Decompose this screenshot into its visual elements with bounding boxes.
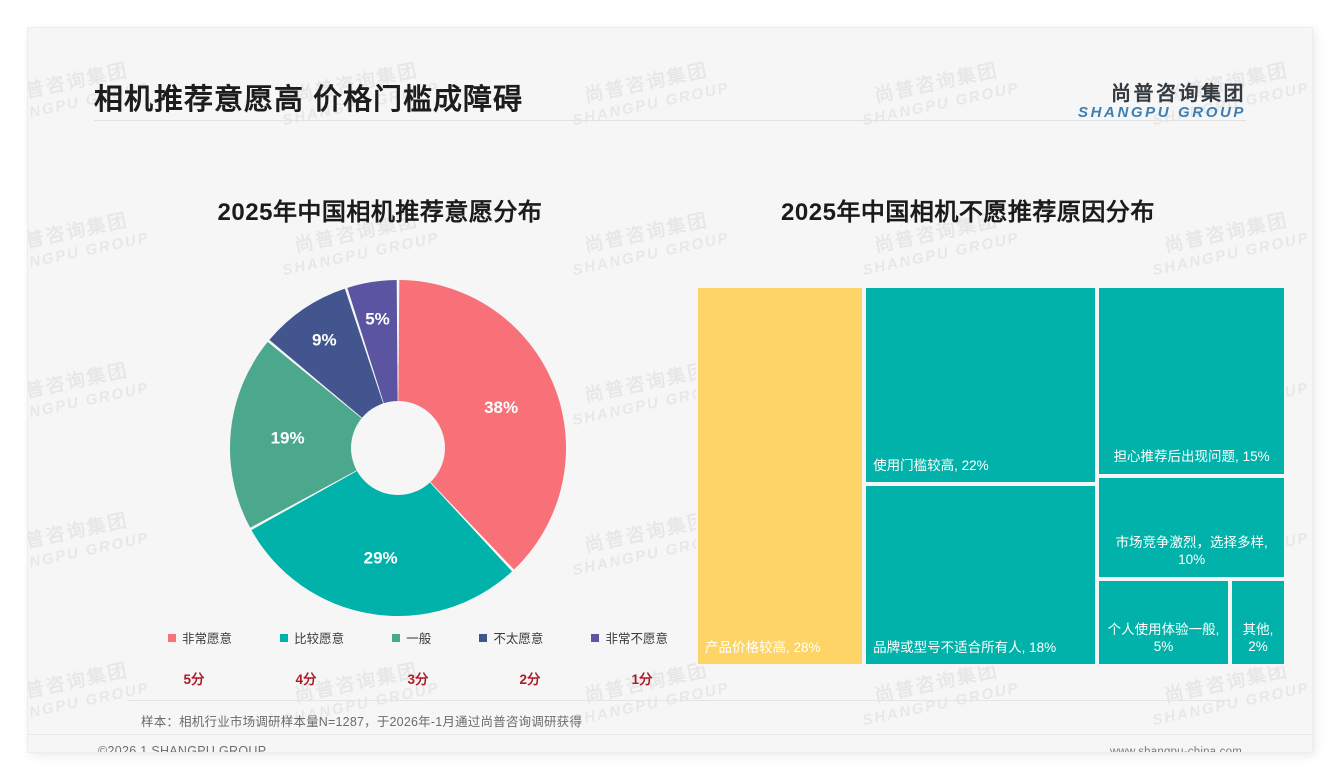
sample-footnote: 样本：相机行业市场调研样本量N=1287，于2026年-1月通过尚普咨询调研获得	[141, 711, 582, 730]
pie-score-row: 5分4分3分2分1分	[168, 668, 668, 688]
treemap-cell-label: 产品价格较高, 28%	[698, 640, 862, 657]
treemap-cell[interactable]: 担心推荐后出现问题, 15%	[1097, 286, 1286, 476]
legend-item[interactable]: 非常不愿意	[591, 628, 668, 647]
footnote-divider	[128, 700, 1228, 701]
score-label: 4分	[280, 668, 332, 688]
treemap-cell-label: 担心推荐后出现问题, 15%	[1099, 449, 1284, 466]
pie-legend: 非常愿意比较愿意一般不太愿意非常不愿意	[168, 628, 668, 647]
brand-logo-cn: 尚普咨询集团	[1078, 83, 1246, 105]
treemap-cell-label: 品牌或型号不适合所有人, 18%	[866, 640, 1095, 657]
legend-swatch-icon	[168, 634, 176, 642]
treemap-cell-label: 市场竞争激烈，选择多样, 10%	[1099, 535, 1284, 569]
pie-slice-label: 19%	[271, 429, 305, 448]
treemap-cell[interactable]: 个人使用体验一般, 5%	[1097, 579, 1230, 666]
donut-hole	[351, 401, 445, 495]
footer-website: www.shangpu-china.com	[1110, 746, 1242, 752]
legend-label: 非常愿意	[182, 628, 232, 647]
pie-slice-label: 5%	[365, 310, 390, 329]
legend-swatch-icon	[392, 634, 400, 642]
slide-canvas: 尚普咨询集团SHANGPU GROUP尚普咨询集团SHANGPU GROUP尚普…	[28, 28, 1312, 752]
watermark-text: 尚普咨询集团SHANGPU GROUP	[28, 502, 151, 579]
donut-chart: 38%29%19%9%5%	[228, 278, 568, 618]
treemap-cell[interactable]: 市场竞争激烈，选择多样, 10%	[1097, 476, 1286, 579]
pie-slice-label: 9%	[312, 331, 337, 350]
legend-item[interactable]: 一般	[392, 628, 431, 647]
legend-item[interactable]: 不太愿意	[479, 628, 543, 647]
treemap-cell-label: 使用门槛较高, 22%	[866, 458, 1095, 475]
slide-header: 相机推荐意愿高 价格门槛成障碍 尚普咨询集团 SHANGPU GROUP	[28, 28, 1312, 120]
page-title: 相机推荐意愿高 价格门槛成障碍	[94, 76, 523, 118]
legend-label: 比较愿意	[294, 628, 344, 647]
legend-item[interactable]: 非常愿意	[168, 628, 232, 647]
footer-copyright: ©2026.1 SHANGPU GROUP	[98, 744, 266, 752]
score-label: 2分	[504, 668, 556, 688]
legend-label: 不太愿意	[493, 628, 543, 647]
treemap-cell[interactable]: 品牌或型号不适合所有人, 18%	[864, 484, 1097, 666]
legend-label: 非常不愿意	[605, 628, 668, 647]
header-divider	[94, 120, 1246, 121]
treemap-cell-label: 个人使用体验一般, 5%	[1099, 622, 1228, 656]
legend-item[interactable]: 比较愿意	[280, 628, 344, 647]
score-label: 3分	[392, 668, 444, 688]
treemap-chart: 产品价格较高, 28%使用门槛较高, 22%品牌或型号不适合所有人, 18%担心…	[696, 286, 1286, 666]
treemap-cell-label: 其他, 2%	[1232, 622, 1284, 656]
treemap-title: 2025年中国相机不愿推荐原因分布	[688, 192, 1248, 227]
score-label: 5分	[168, 668, 220, 688]
pie-slice-label: 38%	[484, 398, 518, 417]
watermark-text: 尚普咨询集团SHANGPU GROUP	[28, 352, 151, 429]
donut-chart-svg: 38%29%19%9%5%	[228, 278, 568, 618]
treemap-cell[interactable]: 产品价格较高, 28%	[696, 286, 864, 666]
legend-swatch-icon	[280, 634, 288, 642]
treemap-cell[interactable]: 使用门槛较高, 22%	[864, 286, 1097, 484]
pie-slice-label: 29%	[364, 549, 398, 568]
legend-swatch-icon	[591, 634, 599, 642]
footer-divider	[28, 734, 1312, 735]
score-label: 1分	[616, 668, 668, 688]
legend-label: 一般	[406, 628, 431, 647]
treemap-cell[interactable]: 其他, 2%	[1230, 579, 1286, 666]
pie-chart-title: 2025年中国相机推荐意愿分布	[90, 192, 670, 227]
legend-swatch-icon	[479, 634, 487, 642]
watermark-text: 尚普咨询集团SHANGPU GROUP	[28, 652, 151, 729]
brand-logo: 尚普咨询集团 SHANGPU GROUP	[1078, 83, 1246, 122]
